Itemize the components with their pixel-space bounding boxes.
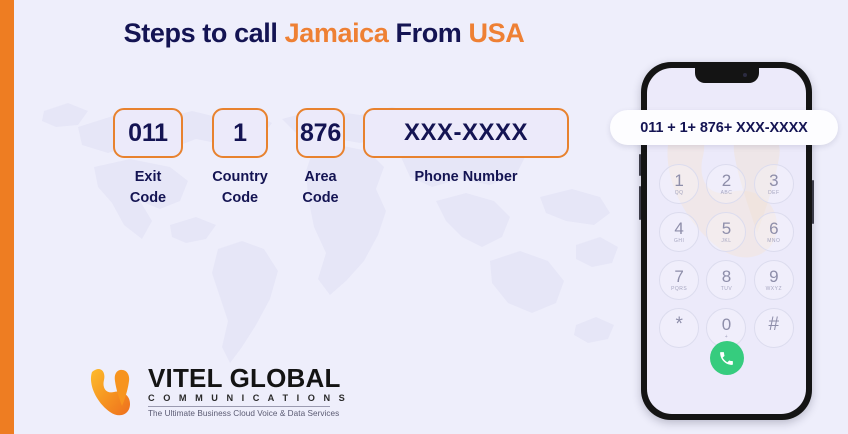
vitel-global-logo: VITEL GLOBAL C O M M U N I C A T I O N S… [86, 360, 336, 422]
dialpad-key-3-digit: 3 [769, 172, 778, 189]
dialpad-key-4-digit: 4 [674, 220, 683, 237]
dialpad-key-1-digit: 1 [674, 172, 683, 189]
step-phone-number-box: XXX-XXXX [363, 108, 569, 158]
logo-subtitle: C O M M U N I C A T I O N S [148, 394, 336, 403]
step-country-code-label: Country Code [212, 167, 268, 209]
step-area-code-label: Area Code [296, 167, 345, 209]
dialpad-key-1-sub: QQ [675, 191, 684, 197]
step-area-code: 876 Area Code [296, 108, 345, 209]
dialpad-key-4-sub: GHI [674, 239, 684, 245]
dialpad-key-hash-digit: # [769, 315, 780, 334]
dialpad-key-0-sub: + [725, 335, 728, 341]
dialpad-key-9-sub: WXYZ [766, 287, 782, 293]
step-exit-code-value: 011 [128, 121, 168, 146]
logo-divider [148, 406, 330, 407]
dialpad-key-star[interactable]: * [659, 308, 699, 348]
dialpad-key-7-sub: PQRS [671, 287, 687, 293]
page-title: Steps to call Jamaica From USA [14, 18, 634, 49]
phone-volume-up-button[interactable] [639, 154, 641, 176]
dialpad-key-8-digit: 8 [722, 268, 731, 285]
title-part-2: From [388, 18, 468, 48]
step-exit-code-label: Exit Code [113, 167, 183, 209]
step-country-code-box: 1 [212, 108, 268, 158]
infographic-canvas: Steps to call Jamaica From USA 011 Exit … [0, 0, 848, 434]
dialpad-key-5-sub: JKL [721, 239, 731, 245]
title-origin-highlight: USA [469, 18, 525, 48]
dialpad-key-0-digit: 0 [722, 316, 731, 333]
step-phone-number: XXX-XXXX Phone Number [363, 108, 569, 188]
dialpad-key-5-digit: 5 [722, 220, 731, 237]
phone-power-button[interactable] [812, 180, 814, 224]
dialpad-key-8[interactable]: 8 TUV [706, 260, 746, 300]
step-country-code: 1 Country Code [212, 108, 268, 209]
step-area-code-value: 876 [300, 121, 341, 146]
step-area-code-box: 876 [296, 108, 345, 158]
dialpad-key-3-sub: DEF [768, 191, 780, 197]
phone-volume-down-button[interactable] [639, 186, 641, 220]
dialpad-key-7[interactable]: 7 PQRS [659, 260, 699, 300]
dialpad-key-7-digit: 7 [674, 268, 683, 285]
dialpad-key-6-sub: MNO [767, 239, 780, 245]
dialpad-key-star-digit: * [675, 315, 682, 334]
title-part-1: Steps to call [124, 18, 285, 48]
dialpad-key-5[interactable]: 5 JKL [706, 212, 746, 252]
call-button[interactable] [710, 341, 744, 375]
dialpad-key-9-digit: 9 [769, 268, 778, 285]
dialpad-key-6-digit: 6 [769, 220, 778, 237]
title-country-highlight: Jamaica [285, 18, 389, 48]
step-exit-code-box: 011 [113, 108, 183, 158]
step-phone-number-value: XXX-XXXX [404, 121, 528, 145]
dialpad-key-4[interactable]: 4 GHI [659, 212, 699, 252]
step-country-code-value: 1 [233, 121, 247, 146]
step-phone-number-label: Phone Number [363, 167, 569, 188]
step-exit-code: 011 Exit Code [113, 108, 183, 209]
front-camera-icon [743, 73, 747, 77]
phone-handset-icon [718, 350, 735, 367]
dialpad[interactable]: 1 QQ 2 ABC 3 DEF 4 GHI 5 JKL [656, 164, 798, 348]
logo-name: VITEL GLOBAL [148, 365, 336, 391]
dialpad-key-8-sub: TUV [721, 287, 733, 293]
dialpad-key-9[interactable]: 9 WXYZ [754, 260, 794, 300]
dialpad-key-2[interactable]: 2 ABC [706, 164, 746, 204]
dialpad-key-2-digit: 2 [722, 172, 731, 189]
dialpad-key-6[interactable]: 6 MNO [754, 212, 794, 252]
dialpad-key-1[interactable]: 1 QQ [659, 164, 699, 204]
vitel-v-logomark-icon [86, 362, 146, 418]
left-accent-bar [0, 0, 14, 434]
phone-notch [695, 68, 759, 83]
logo-tagline: The Ultimate Business Cloud Voice & Data… [148, 410, 336, 418]
dialpad-key-3[interactable]: 3 DEF [754, 164, 794, 204]
dialpad-key-hash[interactable]: # [754, 308, 794, 348]
dialed-number-text: 011 + 1+ 876+ XXX-XXXX [640, 120, 808, 136]
logo-text-block: VITEL GLOBAL C O M M U N I C A T I O N S… [148, 365, 336, 418]
dialed-number-bubble: 011 + 1+ 876+ XXX-XXXX [610, 110, 838, 145]
dialpad-key-2-sub: ABC [721, 191, 733, 197]
